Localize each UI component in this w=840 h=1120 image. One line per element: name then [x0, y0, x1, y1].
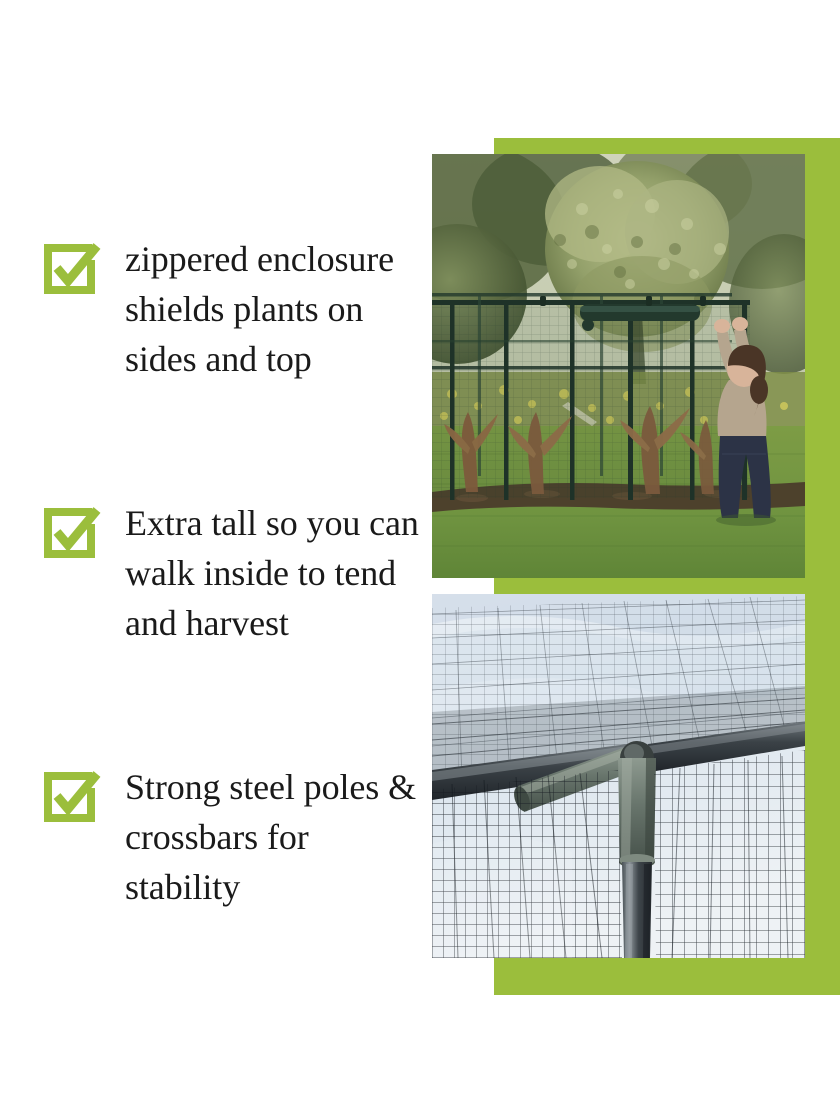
feature-item-label: Extra tall so you can walk inside to ten…: [125, 498, 420, 648]
checkbox-checked-glyph: [40, 502, 102, 564]
checkbox-checked-glyph: [40, 766, 102, 828]
feature-panel-page: zippered enclosure shields plants on sid…: [0, 0, 840, 1120]
photo-garden-enclosure-with-person: [432, 154, 805, 578]
feature-item: zippered enclosure shields plants on sid…: [40, 234, 420, 384]
garden-enclosure-illustration: [432, 154, 805, 578]
pole-corner-joint-illustration: [432, 594, 805, 958]
checkbox-checked-icon: [40, 502, 102, 564]
feature-item-label: Strong steel poles & crossbars for stabi…: [125, 762, 420, 912]
feature-item-label: zippered enclosure shields plants on sid…: [125, 234, 420, 384]
feature-item: Strong steel poles & crossbars for stabi…: [40, 762, 420, 912]
checkbox-checked-glyph: [40, 238, 102, 300]
feature-list: zippered enclosure shields plants on sid…: [0, 0, 432, 1120]
checkbox-checked-icon: [40, 238, 102, 300]
feature-item: Extra tall so you can walk inside to ten…: [40, 498, 420, 648]
photo-steel-pole-corner-joint: [432, 594, 805, 958]
checkbox-checked-icon: [40, 766, 102, 828]
